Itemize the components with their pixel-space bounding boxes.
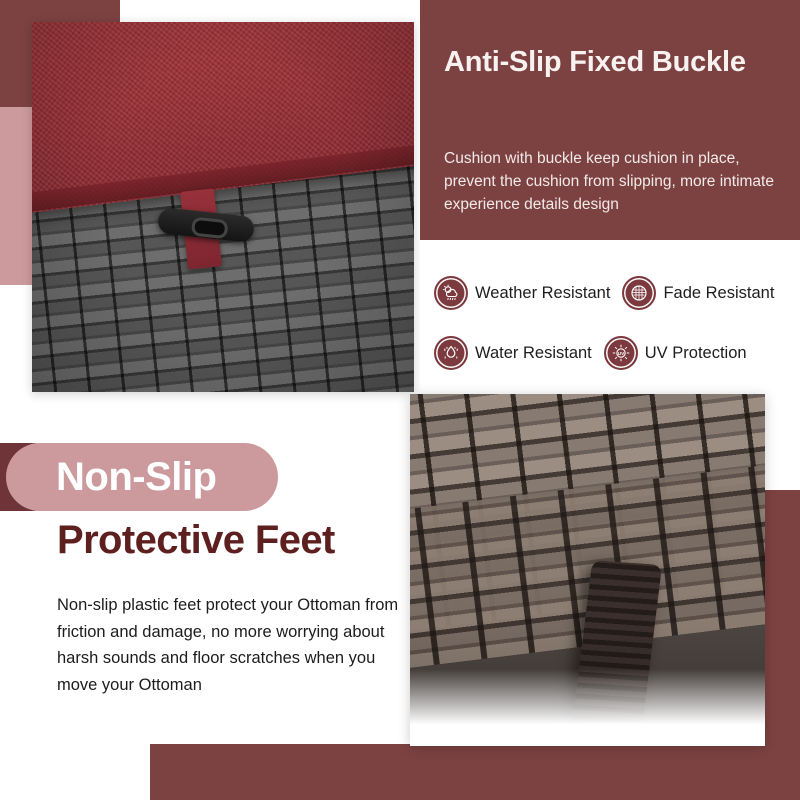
panel-title: Anti-Slip Fixed Buckle: [444, 46, 784, 80]
water-icon: [434, 336, 468, 370]
panel-body-text: Cushion with buckle keep cushion in plac…: [444, 148, 788, 217]
badge-water-resistant: Water Resistant: [434, 336, 592, 370]
badge-weather-resistant: Weather Resistant: [434, 276, 610, 310]
feature-badge-group: Weather Resistant: [420, 240, 800, 395]
badge-row-2: Water Resistant: [420, 328, 800, 378]
badge-uv-protection: UV UV Protection: [604, 336, 747, 370]
badge-label: Water Resistant: [475, 344, 592, 363]
protective-feet-heading: Protective Feet: [57, 518, 437, 563]
background-block-bottom: [150, 744, 800, 800]
badge-row-1: Weather Resistant: [420, 268, 800, 318]
badge-label: Weather Resistant: [475, 284, 610, 303]
floor-surface: [410, 669, 765, 746]
fade-icon: [622, 276, 656, 310]
photo-vignette: [32, 22, 414, 392]
non-slip-badge: Non-Slip: [0, 443, 290, 511]
svg-text:UV: UV: [618, 351, 625, 356]
badge-fade-resistant: Fade Resistant: [622, 276, 774, 310]
pill-label: Non-Slip: [56, 443, 216, 511]
uv-icon: UV: [604, 336, 638, 370]
infographic-page: Anti-Slip Fixed Buckle Cushion with buck…: [0, 0, 800, 800]
badge-label: UV Protection: [645, 344, 747, 363]
product-photo-feet: [410, 394, 765, 746]
protective-feet-body: Non-slip plastic feet protect your Ottom…: [57, 592, 407, 699]
weather-icon: [434, 276, 468, 310]
badge-label: Fade Resistant: [663, 284, 774, 303]
product-photo-buckle: [32, 22, 414, 392]
